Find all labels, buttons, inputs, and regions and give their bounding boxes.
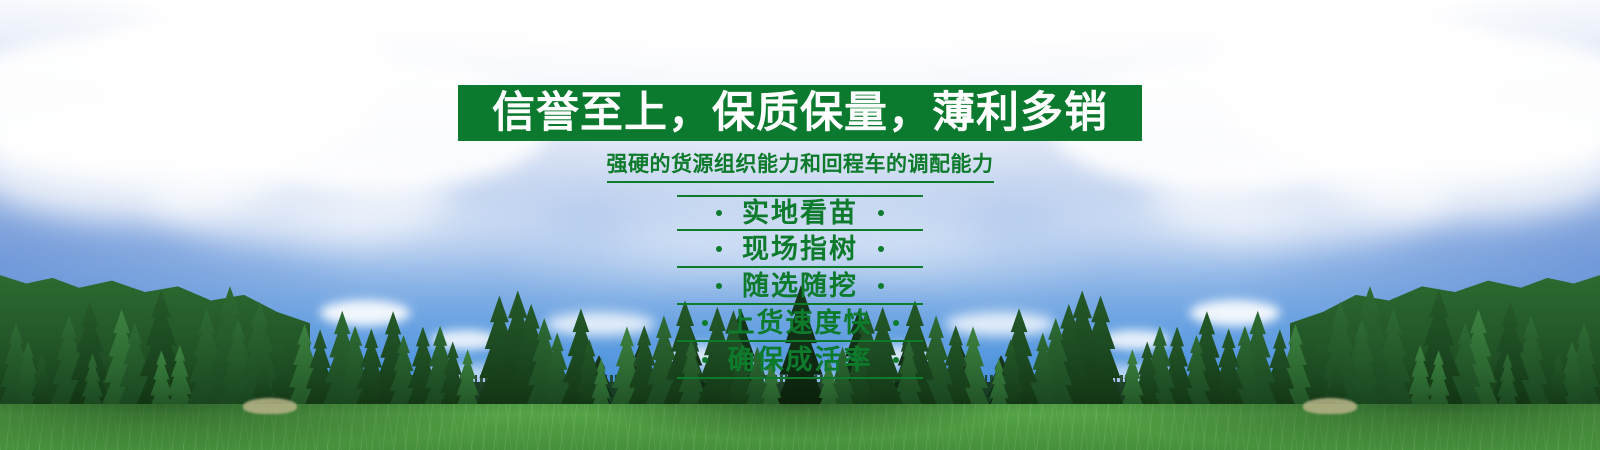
bullet-dot-icon: [702, 320, 708, 326]
bullet-dot-icon: [878, 210, 884, 216]
banner-content: 信誉至上，保质保量，薄利多销 强硬的货源组织能力和回程车的调配能力 实地看苗现场…: [0, 0, 1600, 450]
feature-item: 现场指树: [677, 232, 923, 268]
feature-label: 现场指树: [742, 236, 858, 263]
feature-label: 确保成活率: [728, 347, 873, 374]
bullet-dot-icon: [716, 246, 722, 252]
bullet-dot-icon: [893, 320, 899, 326]
feature-label: 上货速度快: [728, 310, 873, 337]
feature-item: 实地看苗: [677, 195, 923, 231]
bullet-dot-icon: [716, 283, 722, 289]
bullet-dot-icon: [878, 246, 884, 252]
feature-label: 随选随挖: [742, 273, 858, 300]
feature-item: 随选随挖: [677, 269, 923, 305]
bullet-dot-icon: [893, 357, 899, 363]
banner-subtitle: 强硬的货源组织能力和回程车的调配能力: [607, 148, 994, 183]
promo-banner: 信誉至上，保质保量，薄利多销 强硬的货源组织能力和回程车的调配能力 实地看苗现场…: [0, 0, 1600, 450]
bullet-dot-icon: [716, 210, 722, 216]
feature-list: 实地看苗现场指树随选随挖上货速度快确保成活率: [677, 195, 923, 380]
bullet-dot-icon: [878, 283, 884, 289]
page-title: 信誉至上，保质保量，薄利多销: [492, 92, 1108, 135]
bullet-dot-icon: [702, 357, 708, 363]
feature-item: 上货速度快: [677, 306, 923, 342]
headline-banner-bar: 信誉至上，保质保量，薄利多销: [458, 85, 1142, 141]
feature-item: 确保成活率: [677, 343, 923, 379]
feature-label: 实地看苗: [742, 200, 858, 227]
